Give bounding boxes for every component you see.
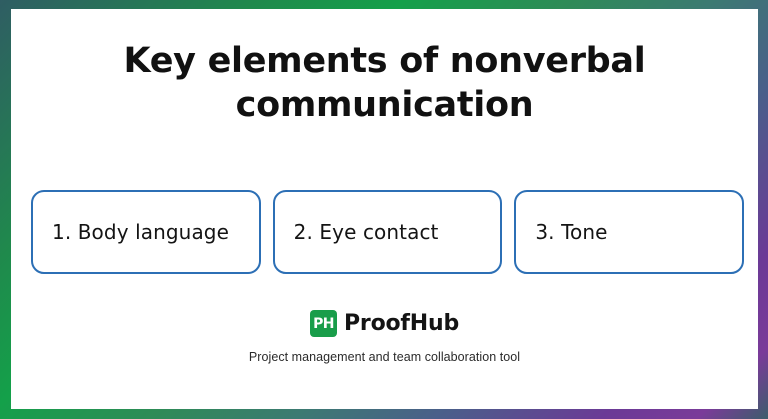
title-line-1: Key elements of nonverbal [124,41,646,81]
title-line-2: communication [67,83,702,127]
proofhub-logo-icon: PH [310,310,337,337]
proofhub-wordmark: ProofHub [344,313,459,335]
branding-footer: PH ProofHub Project management and team … [11,310,758,364]
element-box-label: 2. Eye contact [294,220,439,244]
brand-tagline: Project management and team collaboratio… [249,350,520,364]
infographic-card: Key elements of nonverbal communication … [11,9,758,409]
element-box-tone[interactable]: 3. Tone [514,190,744,274]
element-box-body-language[interactable]: 1. Body language [31,190,261,274]
element-box-label: 1. Body language [52,220,229,244]
element-box-eye-contact[interactable]: 2. Eye contact [273,190,503,274]
page-title: Key elements of nonverbal communication [11,39,758,127]
proofhub-logo-lockup: PH ProofHub [310,310,459,337]
element-box-label: 3. Tone [535,220,607,244]
infographic-card-frame: Key elements of nonverbal communication … [0,0,768,419]
proofhub-logo-monogram: PH [313,317,334,331]
element-box-list: 1. Body language 2. Eye contact 3. Tone [31,190,744,274]
